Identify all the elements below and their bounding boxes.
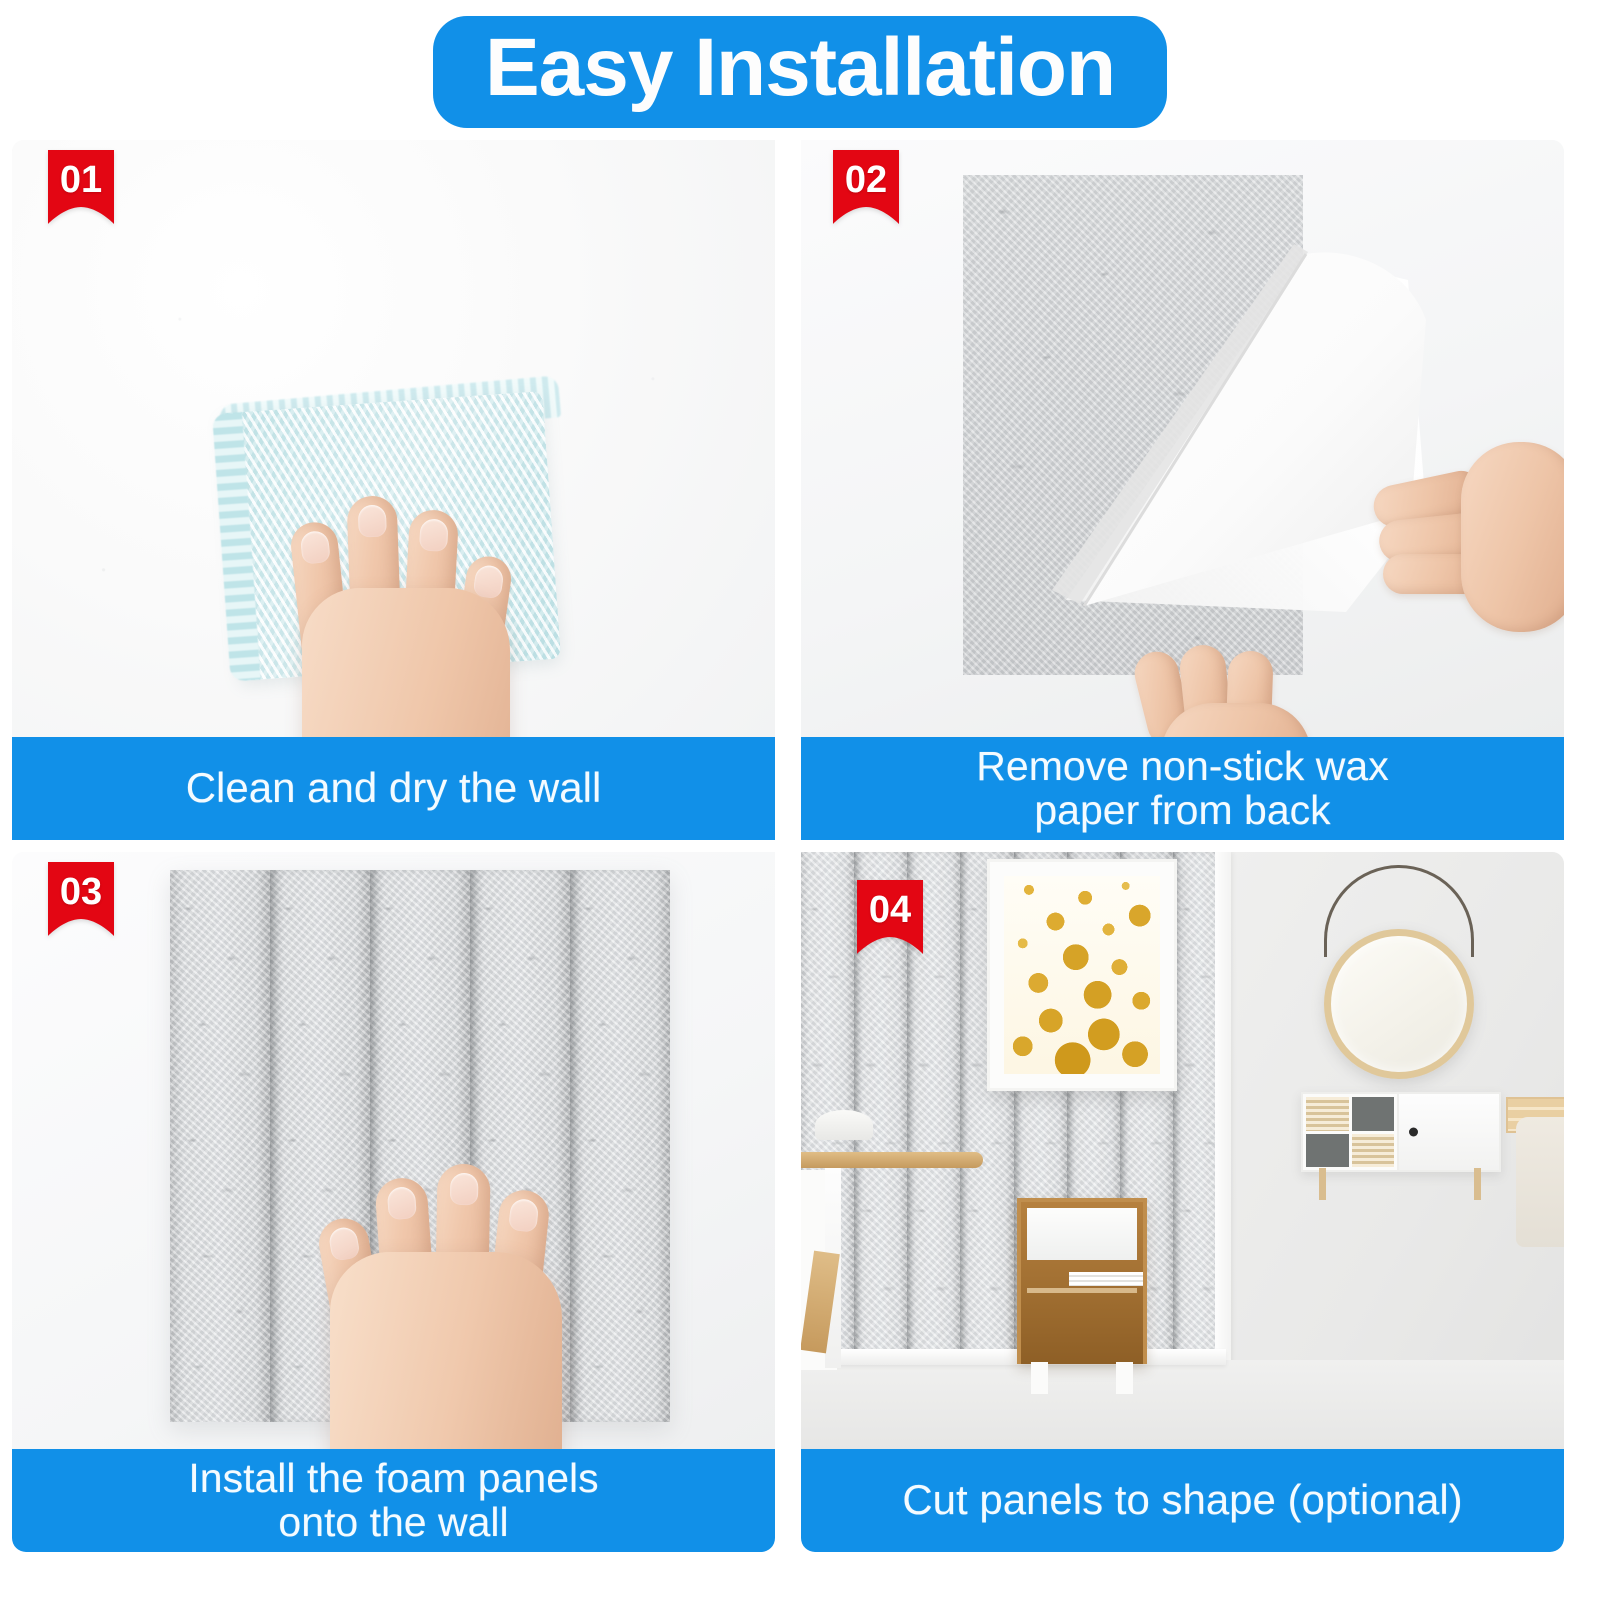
- cabinet-leg: [1474, 1168, 1481, 1200]
- infographic-page: Easy Installation: [0, 0, 1600, 1600]
- hand-pressing-panel: [312, 1102, 602, 1449]
- fingernail: [327, 1225, 360, 1261]
- fingernail: [419, 518, 449, 551]
- fingernail: [508, 1198, 539, 1233]
- nightstand-drawer: [1027, 1208, 1137, 1260]
- step-number: 03: [48, 862, 114, 922]
- step-caption-text: Install the foam panels onto the wall: [172, 1457, 614, 1545]
- gold-dot-art: [1004, 876, 1160, 1074]
- step-card-03: 03 Install the foam panels onto the wall: [12, 852, 775, 1552]
- title-pill: Easy Installation: [433, 16, 1167, 128]
- header: Easy Installation: [0, 16, 1600, 128]
- step-badge-03: 03: [48, 862, 114, 936]
- floor: [801, 1360, 1564, 1449]
- step-number: 02: [833, 150, 899, 210]
- panel-slat: [170, 870, 270, 1422]
- round-mirror: [1324, 929, 1474, 1079]
- step-photo-03: 03: [12, 852, 775, 1449]
- desk-top: [801, 1152, 983, 1168]
- step-card-02: 02 Remove non-stick wax paper from back: [801, 140, 1564, 840]
- step-photo-01: 01: [12, 140, 775, 737]
- nightstand-cabinet: [1017, 1198, 1147, 1364]
- table-lamp-shade: [815, 1110, 873, 1140]
- steps-grid: 01 Clean and dry the wall: [12, 140, 1588, 1590]
- palm: [1461, 442, 1564, 632]
- fingernail: [472, 564, 504, 600]
- step-card-04: 04 Cut panels to shape (optional): [801, 852, 1564, 1552]
- step-photo-04: 04: [801, 852, 1564, 1449]
- shelf-cubby: [1352, 1097, 1395, 1131]
- baseboard: [801, 1349, 1226, 1365]
- framed-artwork: [987, 859, 1177, 1091]
- step-caption-text: Remove non-stick wax paper from back: [960, 745, 1404, 833]
- step-number: 04: [857, 880, 923, 940]
- step-badge-04: 04: [857, 880, 923, 954]
- wall-corner-trim: [1215, 852, 1231, 1397]
- sideboard-door: [1397, 1094, 1499, 1170]
- fingernail: [358, 505, 387, 538]
- cabinet-leg: [1031, 1362, 1048, 1394]
- step-caption-bar-03: Install the foam panels onto the wall: [12, 1449, 775, 1552]
- nightstand-books: [1069, 1272, 1143, 1286]
- sideboard-cabinet: [1301, 1092, 1501, 1172]
- shelf-books: [1352, 1134, 1395, 1168]
- fingernail: [299, 530, 330, 565]
- step-badge-01: 01: [48, 150, 114, 224]
- nightstand-shelf: [1027, 1288, 1137, 1293]
- daybed-cushion: [1516, 1117, 1564, 1247]
- hand-right-holding-paper: [1361, 420, 1564, 650]
- step-caption-text: Cut panels to shape (optional): [886, 1478, 1478, 1523]
- hand-wiping: [288, 470, 543, 737]
- shelf-books: [1306, 1097, 1349, 1131]
- sideboard-shelves: [1303, 1094, 1397, 1170]
- hand-left-supporting-panel: [1131, 595, 1331, 737]
- page-title: Easy Installation: [485, 22, 1115, 114]
- fingernail: [449, 1173, 478, 1205]
- step-badge-02: 02: [833, 150, 899, 224]
- door-knob: [1409, 1128, 1418, 1137]
- palm: [302, 588, 510, 737]
- cabinet-leg: [1319, 1168, 1326, 1200]
- step-photo-02: 02: [801, 140, 1564, 737]
- step-caption-bar-02: Remove non-stick wax paper from back: [801, 737, 1564, 840]
- fingernail: [387, 1186, 417, 1220]
- step-caption-bar-01: Clean and dry the wall: [12, 737, 775, 840]
- step-card-01: 01 Clean and dry the wall: [12, 140, 775, 840]
- shelf-cubby: [1306, 1134, 1349, 1168]
- step-caption-text: Clean and dry the wall: [170, 766, 618, 811]
- step-caption-bar-04: Cut panels to shape (optional): [801, 1449, 1564, 1552]
- cabinet-leg: [1116, 1362, 1133, 1394]
- palm: [330, 1252, 562, 1449]
- step-number: 01: [48, 150, 114, 210]
